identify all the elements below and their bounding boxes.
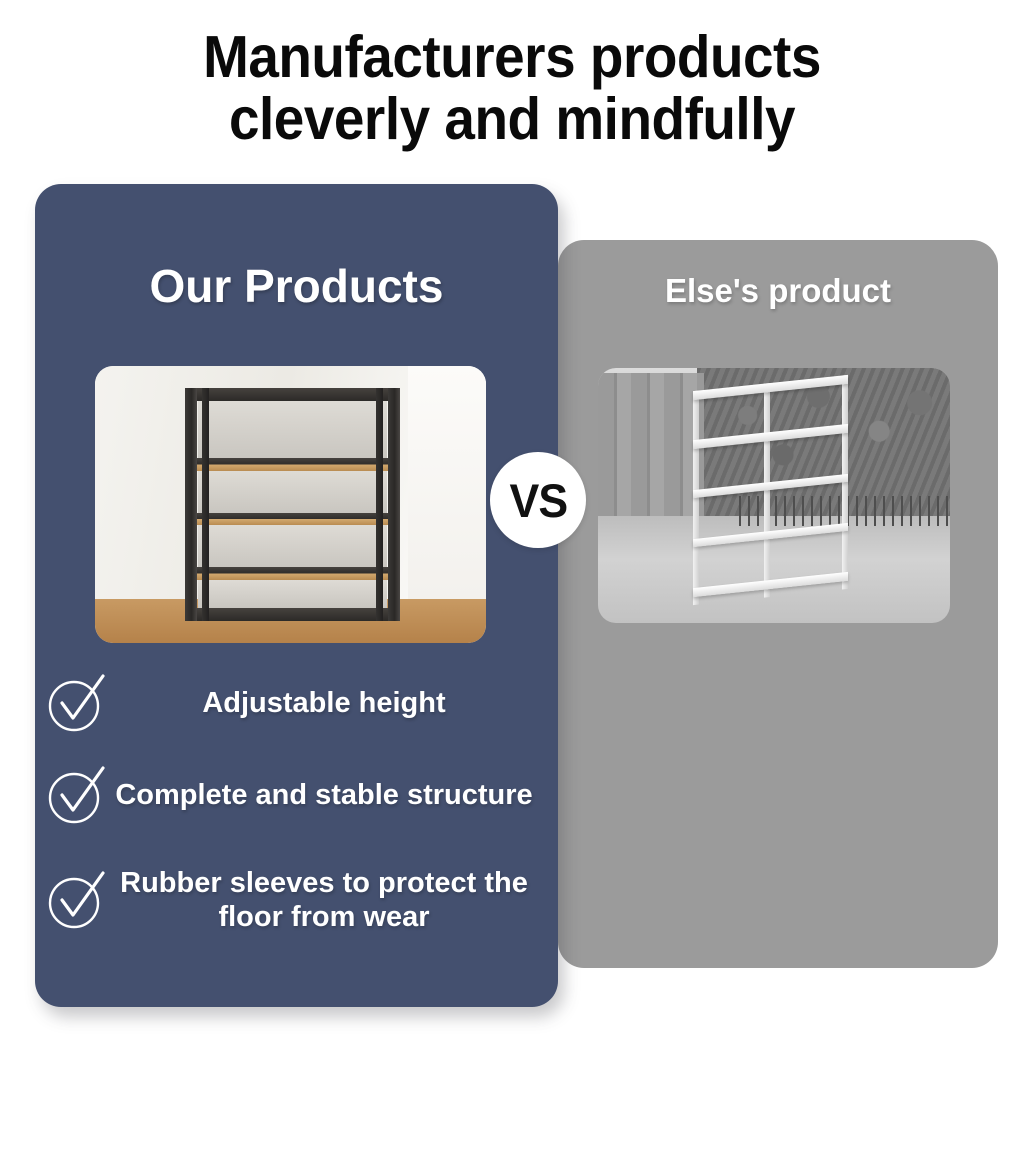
shelf-bay <box>198 401 387 459</box>
page-title-line-2: cleverly and mindfully <box>36 88 988 150</box>
comparison-infographic: Manufacturers products cleverly and mind… <box>0 0 1024 1024</box>
our-product-photo <box>95 366 486 643</box>
list-item: Adjustable height <box>46 672 534 734</box>
shelf-board <box>187 513 398 526</box>
photo-white-shelving-unit <box>693 375 848 605</box>
photo-side-wall <box>408 366 486 621</box>
check-circle-icon <box>46 672 108 734</box>
shelf-bay <box>198 525 387 567</box>
shelf-board <box>187 388 398 401</box>
shelf-leg <box>842 375 848 590</box>
shelf-board <box>187 567 398 580</box>
list-item: Rubber sleeves to protect the floor from… <box>46 866 534 934</box>
versus-badge-label: VS <box>509 473 567 528</box>
shelf-board <box>187 608 398 621</box>
shelf-inner-post <box>202 388 208 621</box>
shelf-board <box>693 424 848 449</box>
competitor-product-photo <box>598 368 950 623</box>
page-title: Manufacturers products cleverly and mind… <box>36 26 988 150</box>
list-item-label: Complete and stable structure <box>114 778 534 812</box>
shelf-post <box>388 388 400 621</box>
shelf-post <box>185 388 197 621</box>
shelf-board <box>187 458 398 471</box>
list-item-label: Rubber sleeves to protect the floor from… <box>114 866 534 934</box>
shelf-leg <box>764 383 770 598</box>
competitor-panel: Else's product <box>558 240 998 968</box>
check-circle-icon <box>46 869 108 931</box>
shelf-bay <box>198 471 387 513</box>
our-products-panel-heading: Our Products <box>35 259 558 313</box>
competitor-panel-heading: Else's product <box>558 272 998 310</box>
photo-wall-panel <box>598 373 704 516</box>
versus-badge: VS <box>490 452 586 548</box>
shelf-bay <box>198 580 387 608</box>
shelf-board <box>693 474 848 499</box>
photo-dark-shelving-unit <box>185 388 400 621</box>
shelf-inner-post <box>376 388 382 621</box>
shelf-leg <box>693 391 699 606</box>
shelf-board <box>693 523 848 548</box>
check-circle-icon <box>46 764 108 826</box>
list-item: Complete and stable structure <box>46 764 534 826</box>
list-item-label: Adjustable height <box>114 686 534 720</box>
page-title-line-1: Manufacturers products <box>203 24 821 90</box>
